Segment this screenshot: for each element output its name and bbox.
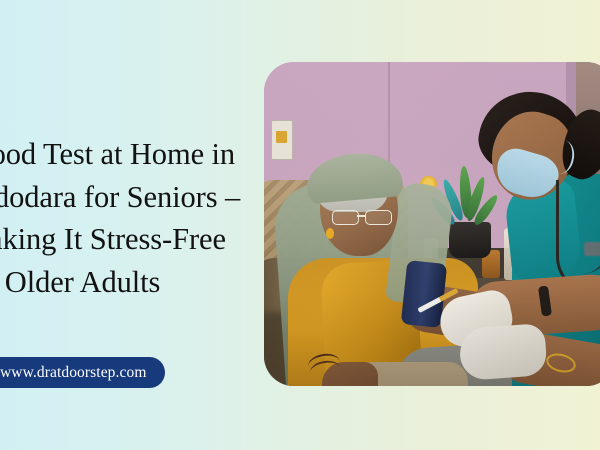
eyeglass-lens-icon xyxy=(332,210,359,225)
headline-line-2: Vadodara for Seniors – xyxy=(0,176,262,219)
website-url-text: www.dratdoorstep.com xyxy=(0,365,147,381)
hero-photo-card xyxy=(264,62,600,386)
eyeglass-lens-icon xyxy=(365,210,392,225)
page-title: Blood Test at Home in Vadodara for Senio… xyxy=(0,133,262,303)
patient-eyeglasses xyxy=(332,210,394,224)
headline-line-1: Blood Test at Home in xyxy=(0,133,262,176)
headline-line-4: for Older Adults xyxy=(0,261,262,304)
website-url-badge[interactable]: www.dratdoorstep.com xyxy=(0,357,165,388)
scrubs-logo xyxy=(584,242,600,256)
promo-banner: Blood Test at Home in Vadodara for Senio… xyxy=(0,0,600,450)
headline-line-3: Making It Stress-Free xyxy=(0,218,262,261)
eyeglass-bridge-icon xyxy=(357,215,365,217)
wall-switchboard xyxy=(271,120,293,160)
hero-photo xyxy=(264,62,600,386)
medical-glove-icon xyxy=(458,323,547,381)
stethoscope-tube xyxy=(582,178,600,274)
patient-earring xyxy=(326,228,334,239)
